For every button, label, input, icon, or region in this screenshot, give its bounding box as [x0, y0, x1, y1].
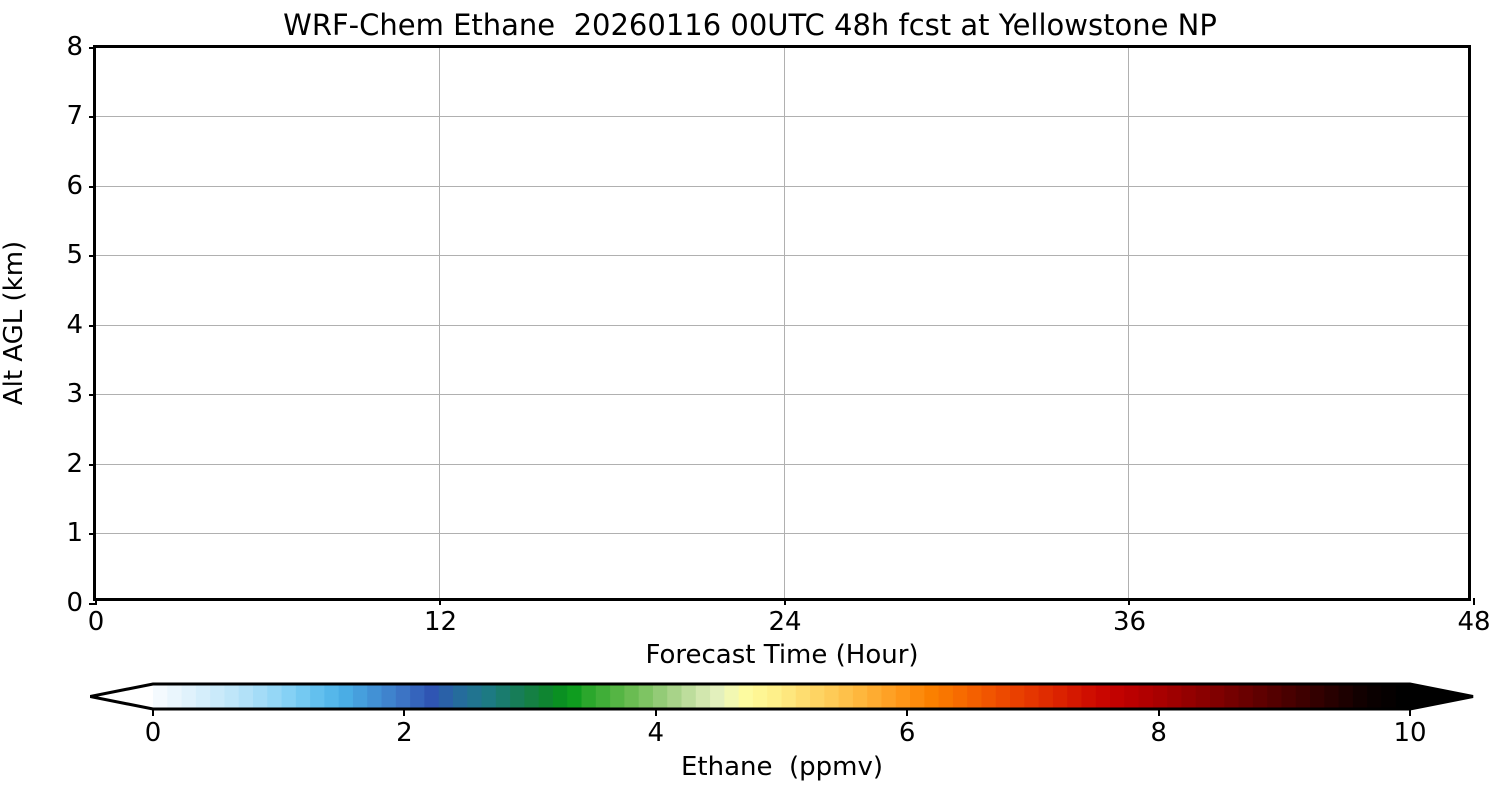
colorbar-band	[439, 684, 454, 709]
colorbar-band	[239, 684, 254, 709]
colorbar-band	[953, 684, 968, 709]
colorbar-band	[896, 684, 911, 709]
colorbar-band	[939, 684, 954, 709]
y-tick-mark	[89, 394, 96, 396]
colorbar-band	[282, 684, 297, 709]
colorbar-band	[867, 684, 882, 709]
colorbar-band	[653, 684, 668, 709]
colorbar-band	[1224, 684, 1239, 709]
colorbar-band	[1296, 684, 1311, 709]
colorbar-band	[682, 684, 697, 709]
colorbar-gradient	[90, 672, 1475, 712]
colorbar-tick-mark	[1409, 709, 1411, 716]
x-tick-label: 36	[1113, 609, 1146, 635]
x-gridline	[439, 48, 440, 598]
colorbar-band	[553, 684, 568, 709]
colorbar-band	[1010, 684, 1025, 709]
colorbar-tick-label: 2	[396, 720, 413, 746]
colorbar-band	[1181, 684, 1196, 709]
y-tick-label: 2	[66, 451, 83, 477]
colorbar-band	[324, 684, 339, 709]
colorbar-band	[924, 684, 939, 709]
colorbar-band	[1396, 684, 1411, 709]
colorbar-band	[596, 684, 611, 709]
colorbar-band	[182, 684, 197, 709]
colorbar-band	[1353, 684, 1368, 709]
colorbar-band	[639, 684, 654, 709]
colorbar-band	[567, 684, 582, 709]
y-tick-mark	[89, 464, 96, 466]
colorbar-tick-mark	[403, 709, 405, 716]
colorbar-band	[796, 684, 811, 709]
colorbar-band	[881, 684, 896, 709]
colorbar: 0246810	[90, 672, 1475, 720]
colorbar-band	[910, 684, 925, 709]
x-tick-label: 24	[768, 609, 801, 635]
colorbar-band	[1324, 684, 1339, 709]
colorbar-band	[1153, 684, 1168, 709]
x-tick-label: 0	[88, 609, 105, 635]
colorbar-band	[667, 684, 682, 709]
colorbar-label: Ethane (ppmv)	[93, 752, 1471, 782]
y-tick-label: 3	[66, 381, 83, 407]
y-gridline	[96, 464, 1468, 465]
colorbar-band	[310, 684, 325, 709]
colorbar-band	[296, 684, 311, 709]
colorbar-extend-max	[1410, 684, 1473, 709]
colorbar-band	[610, 684, 625, 709]
colorbar-band	[967, 684, 982, 709]
colorbar-tick-label: 6	[899, 720, 916, 746]
y-gridline	[96, 255, 1468, 256]
colorbar-band	[253, 684, 268, 709]
colorbar-band	[1253, 684, 1268, 709]
plot-data-area	[96, 48, 1468, 598]
colorbar-band	[1239, 684, 1254, 709]
y-tick-label: 6	[66, 173, 83, 199]
colorbar-band	[382, 684, 397, 709]
x-tick-mark	[95, 598, 97, 605]
colorbar-band	[167, 684, 182, 709]
y-tick-label: 5	[66, 242, 83, 268]
colorbar-band	[1110, 684, 1125, 709]
y-tick-mark	[89, 255, 96, 257]
colorbar-band	[739, 684, 754, 709]
colorbar-band	[767, 684, 782, 709]
colorbar-band	[1267, 684, 1282, 709]
matplotlib-figure: WRF-Chem Ethane 20260116 00UTC 48h fcst …	[0, 0, 1500, 800]
x-gridline	[784, 48, 785, 598]
y-tick-label: 7	[66, 103, 83, 129]
colorbar-band	[1081, 684, 1096, 709]
colorbar-band	[996, 684, 1011, 709]
x-gridline	[1128, 48, 1129, 598]
colorbar-band	[410, 684, 425, 709]
colorbar-band	[482, 684, 497, 709]
y-gridline	[96, 394, 1468, 395]
colorbar-band	[1367, 684, 1382, 709]
colorbar-band	[510, 684, 525, 709]
main-plot-axes: 012345678012243648	[93, 45, 1471, 601]
y-tick-label: 0	[66, 590, 83, 616]
colorbar-band	[1281, 684, 1296, 709]
colorbar-band	[724, 684, 739, 709]
colorbar-band	[1196, 684, 1211, 709]
colorbar-band	[624, 684, 639, 709]
colorbar-band	[1067, 684, 1082, 709]
colorbar-band	[1167, 684, 1182, 709]
colorbar-extend-min	[90, 684, 153, 709]
colorbar-tick-mark	[655, 709, 657, 716]
colorbar-band	[582, 684, 597, 709]
y-gridline	[96, 325, 1468, 326]
colorbar-band	[824, 684, 839, 709]
colorbar-band	[467, 684, 482, 709]
colorbar-band	[496, 684, 511, 709]
colorbar-band	[396, 684, 411, 709]
y-tick-mark	[89, 47, 96, 49]
colorbar-band	[267, 684, 282, 709]
colorbar-band	[196, 684, 211, 709]
y-tick-label: 1	[66, 520, 83, 546]
colorbar-tick-label: 0	[145, 720, 162, 746]
colorbar-band	[153, 684, 168, 709]
page-title: WRF-Chem Ethane 20260116 00UTC 48h fcst …	[0, 8, 1500, 42]
y-gridline	[96, 116, 1468, 117]
colorbar-band	[710, 684, 725, 709]
x-tick-mark	[1473, 598, 1475, 605]
colorbar-band	[696, 684, 711, 709]
x-tick-label: 12	[424, 609, 457, 635]
y-tick-mark	[89, 325, 96, 327]
y-gridline	[96, 533, 1468, 534]
colorbar-band	[753, 684, 768, 709]
colorbar-band	[1124, 684, 1139, 709]
x-tick-mark	[784, 598, 786, 605]
colorbar-band	[839, 684, 854, 709]
y-tick-mark	[89, 533, 96, 535]
colorbar-band	[1339, 684, 1354, 709]
x-tick-label: 48	[1457, 609, 1490, 635]
colorbar-tick-mark	[1158, 709, 1160, 716]
colorbar-band	[424, 684, 439, 709]
colorbar-band	[353, 684, 368, 709]
colorbar-tick-label: 4	[648, 720, 665, 746]
colorbar-tick-label: 10	[1393, 720, 1426, 746]
colorbar-band	[224, 684, 239, 709]
colorbar-band	[1024, 684, 1039, 709]
colorbar-tick-mark	[152, 709, 154, 716]
colorbar-band	[981, 684, 996, 709]
x-axis-label: Forecast Time (Hour)	[93, 640, 1471, 670]
colorbar-band	[1096, 684, 1111, 709]
colorbar-band	[1381, 684, 1396, 709]
colorbar-band	[810, 684, 825, 709]
colorbar-band	[1039, 684, 1054, 709]
colorbar-band	[210, 684, 225, 709]
colorbar-band	[853, 684, 868, 709]
colorbar-band	[453, 684, 468, 709]
colorbar-tick-mark	[906, 709, 908, 716]
colorbar-tick-label: 8	[1150, 720, 1167, 746]
colorbar-band	[1053, 684, 1068, 709]
colorbar-band	[1139, 684, 1154, 709]
colorbar-band	[339, 684, 354, 709]
x-tick-mark	[1128, 598, 1130, 605]
x-tick-mark	[439, 598, 441, 605]
y-gridline	[96, 186, 1468, 187]
colorbar-band	[539, 684, 554, 709]
colorbar-band	[1210, 684, 1225, 709]
y-tick-label: 4	[66, 312, 83, 338]
colorbar-band	[524, 684, 539, 709]
colorbar-band	[782, 684, 797, 709]
y-axis-label: Alt AGL (km)	[0, 241, 28, 405]
colorbar-band	[1310, 684, 1325, 709]
y-tick-mark	[89, 116, 96, 118]
colorbar-band	[367, 684, 382, 709]
y-tick-mark	[89, 186, 96, 188]
y-tick-label: 8	[66, 34, 83, 60]
